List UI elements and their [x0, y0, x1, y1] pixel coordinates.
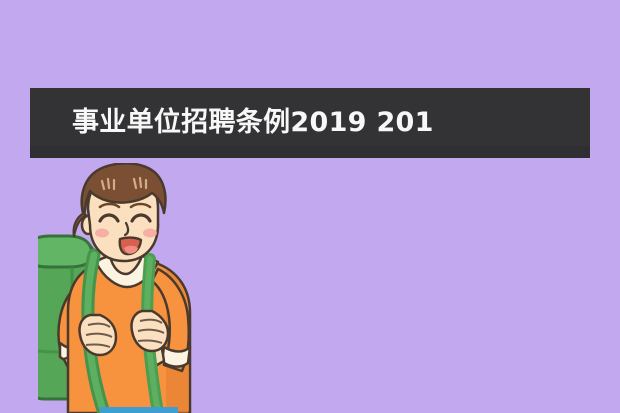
page-title: 事业单位招聘条例2019 201: [72, 109, 434, 136]
title-banner-underband: [30, 146, 590, 158]
student-illustration-svg: [38, 163, 218, 413]
screenshot-root: 事业单位招聘条例2019 201: [0, 0, 620, 413]
figure-jeans: [100, 407, 178, 413]
right-cheek: [143, 229, 157, 238]
title-banner: 事业单位招聘条例2019 201: [30, 88, 590, 158]
student-with-backpack-illustration: [38, 163, 218, 413]
left-cheek: [95, 229, 109, 238]
